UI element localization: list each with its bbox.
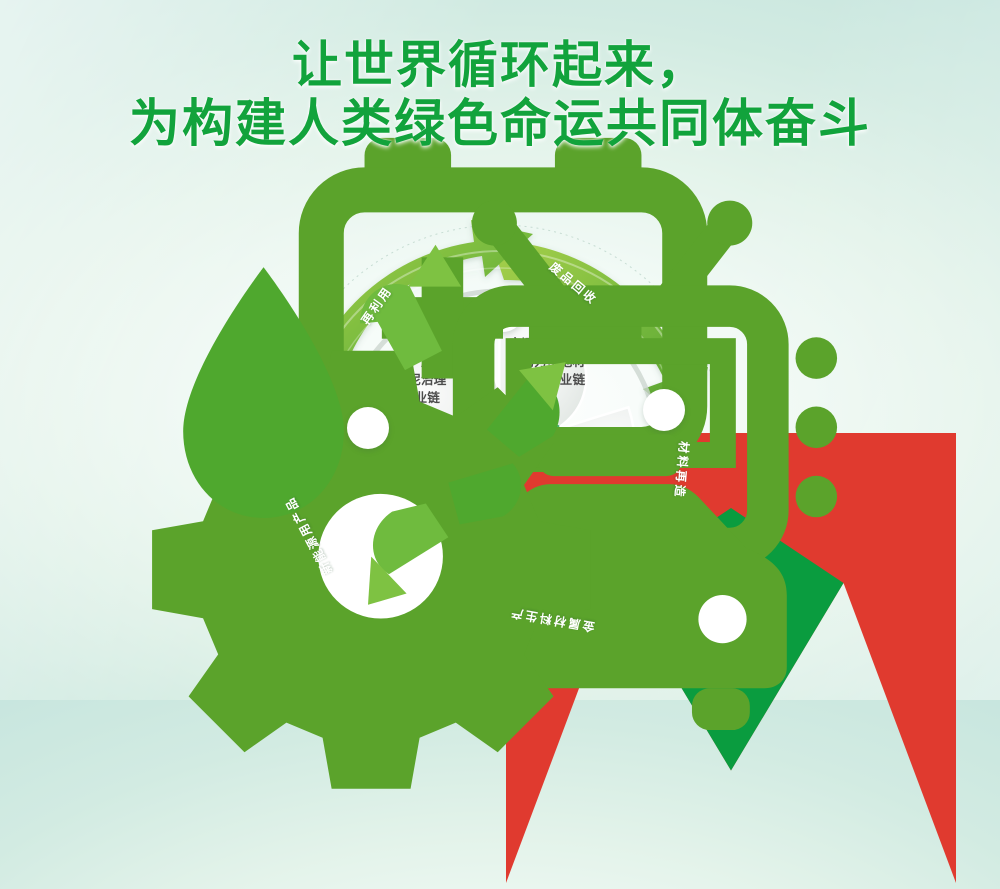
title-line-1: 让世界循环起来，: [0, 36, 1000, 95]
circular-industry-chain-diagram: 废旧电池回收 与动力电池材 料制造产业链 废水、废渣、 废泥治理 产业链 电子废…: [275, 218, 725, 680]
water-recycle-icon: [143, 197, 593, 659]
page-title: 让世界循环起来， 为构建人类绿色命运共同体奋斗: [0, 36, 1000, 155]
badge-water[interactable]: [347, 407, 389, 449]
title-line-2: 为构建人类绿色命运共同体奋斗: [0, 95, 1000, 155]
